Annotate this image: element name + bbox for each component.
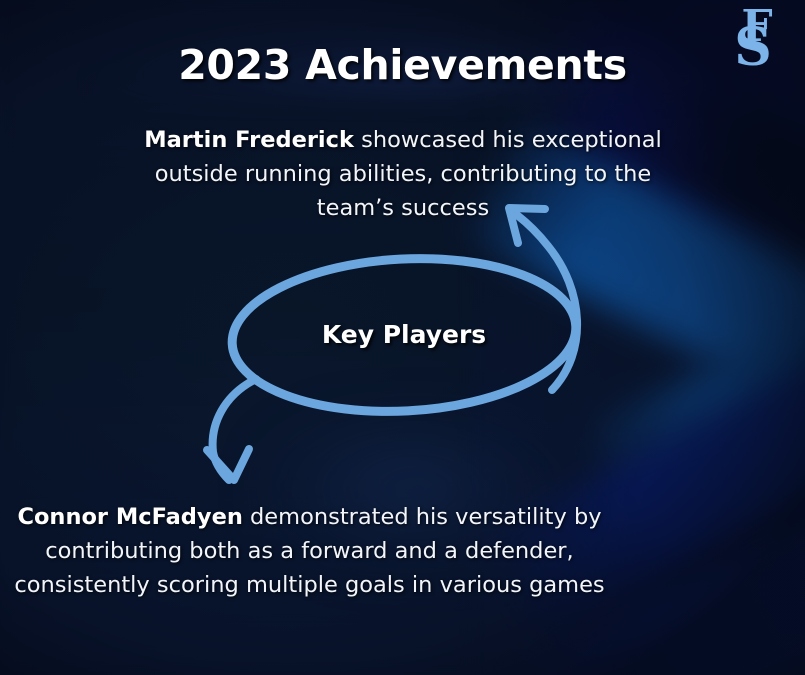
club-monogram-logo-icon: F S (723, 9, 787, 77)
paragraph-connor-mcfadyen: Connor McFadyen demonstrated his versati… (12, 500, 607, 602)
slide-canvas: 2023 Achievements Martin Frederick showc… (0, 0, 805, 675)
page-title: 2023 Achievements (0, 41, 805, 89)
paragraph-martin-frederick: Martin Frederick showcased his exception… (118, 123, 688, 225)
player-name-connor-mcfadyen: Connor McFadyen (17, 504, 242, 530)
slide-content: 2023 Achievements Martin Frederick showc… (0, 0, 805, 675)
diagram-center-label: Key Players (230, 320, 578, 349)
svg-text:S: S (734, 17, 772, 77)
player-name-martin-frederick: Martin Frederick (144, 127, 354, 153)
